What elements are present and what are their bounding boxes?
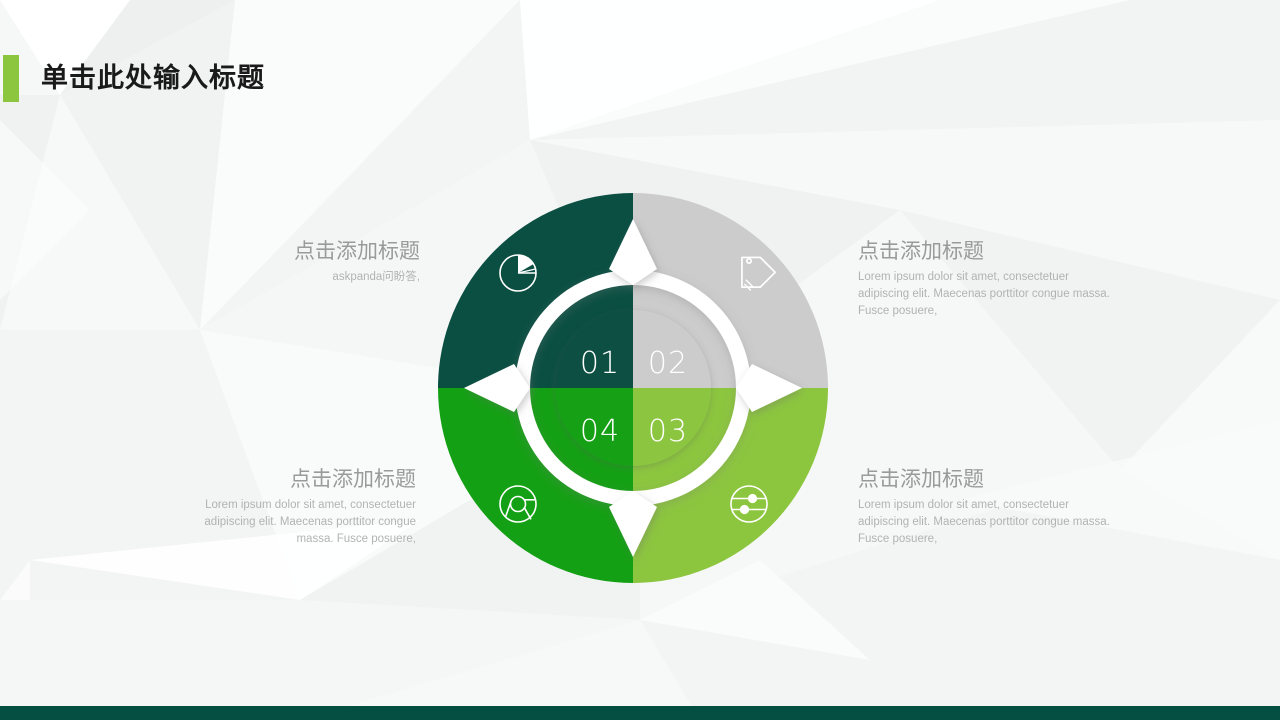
callout-block-04: 点击添加标题 Lorem ipsum dolor sit amet, conse… (166, 466, 416, 547)
callout-title-03: 点击添加标题 (858, 466, 1118, 492)
callout-title-02: 点击添加标题 (858, 238, 1118, 264)
callout-block-02: 点击添加标题 Lorem ipsum dolor sit amet, conse… (858, 238, 1118, 319)
callout-body-04: Lorem ipsum dolor sit amet, consectetuer… (166, 497, 416, 547)
segment-number-04: 04 (580, 414, 620, 449)
segment-number-02: 02 (648, 346, 688, 381)
quadrant-donut-diagram: 01 02 03 04 (438, 193, 828, 583)
callout-body-01: askpanda问盼答, (170, 269, 420, 286)
segment-number-01: 01 (580, 346, 620, 381)
callout-body-02: Lorem ipsum dolor sit amet, consectetuer… (858, 269, 1118, 319)
page-title: 单击此处输入标题 (41, 65, 265, 92)
slide-canvas: 单击此处输入标题 (0, 0, 1280, 720)
callout-body-03: Lorem ipsum dolor sit amet, consectetuer… (858, 497, 1118, 547)
segment-number-03: 03 (648, 414, 688, 449)
title-accent-bar (3, 55, 19, 102)
footer-bar (0, 706, 1280, 720)
callout-title-04: 点击添加标题 (166, 466, 416, 492)
callout-block-01: 点击添加标题 askpanda问盼答, (170, 238, 420, 286)
callout-title-01: 点击添加标题 (170, 238, 420, 264)
header: 单击此处输入标题 (0, 50, 265, 106)
callout-block-03: 点击添加标题 Lorem ipsum dolor sit amet, conse… (858, 466, 1118, 547)
